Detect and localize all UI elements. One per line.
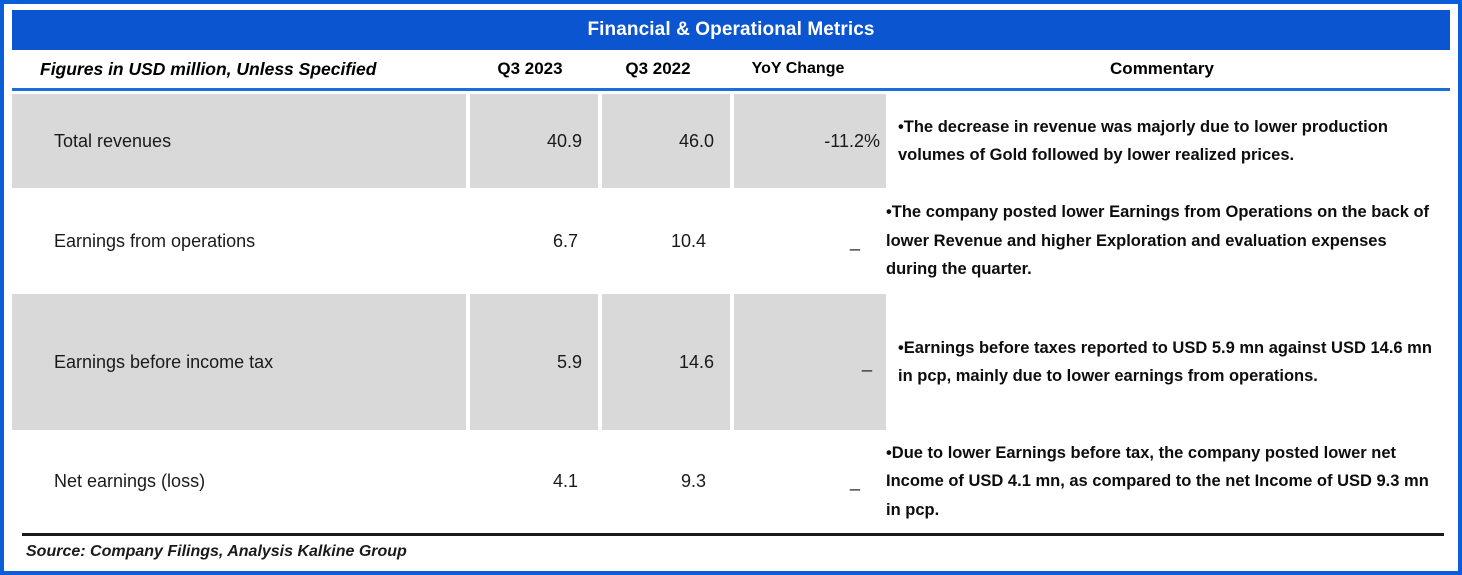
table-row: Earnings before income tax 5.9 14.6 _ •E… bbox=[12, 291, 1450, 433]
row-label: Earnings before income tax bbox=[12, 294, 466, 430]
table-title: Financial & Operational Metrics bbox=[587, 19, 874, 41]
commentary-text: •The decrease in revenue was majorly due… bbox=[898, 113, 1440, 170]
cell-yoy-change: _ bbox=[722, 433, 874, 530]
cell-commentary: •Earnings before taxes reported to USD 5… bbox=[886, 291, 1450, 433]
column-header-q3-2023: Q3 2023 bbox=[466, 59, 594, 79]
column-header-q3-2022: Q3 2022 bbox=[594, 59, 722, 79]
row-label: Net earnings (loss) bbox=[12, 433, 466, 530]
column-header-row: Figures in USD million, Unless Specified… bbox=[12, 50, 1450, 91]
metrics-table-frame: Financial & Operational Metrics Figures … bbox=[0, 0, 1462, 575]
column-header-commentary: Commentary bbox=[874, 59, 1450, 79]
table-body: Total revenues 40.9 46.0 -11.2% •The dec… bbox=[12, 91, 1450, 530]
cell-yoy-change: _ bbox=[734, 294, 886, 430]
row-label: Earnings from operations bbox=[12, 191, 466, 291]
source-note: Source: Company Filings, Analysis Kalkin… bbox=[12, 536, 1450, 567]
row-label: Total revenues bbox=[12, 94, 466, 188]
table-footer: Source: Company Filings, Analysis Kalkin… bbox=[12, 533, 1450, 567]
table-row: Total revenues 40.9 46.0 -11.2% •The dec… bbox=[12, 91, 1450, 191]
cell-commentary: •The company posted lower Earnings from … bbox=[874, 191, 1450, 291]
cell-q3-2023: 40.9 bbox=[470, 94, 598, 188]
cell-q3-2023: 4.1 bbox=[466, 433, 594, 530]
cell-yoy-change: _ bbox=[722, 191, 874, 291]
commentary-text: •Earnings before taxes reported to USD 5… bbox=[898, 334, 1440, 391]
table-title-bar: Financial & Operational Metrics bbox=[12, 10, 1450, 50]
table-row: Net earnings (loss) 4.1 9.3 _ •Due to lo… bbox=[12, 433, 1450, 530]
cell-q3-2023: 5.9 bbox=[470, 294, 598, 430]
cell-commentary: •Due to lower Earnings before tax, the c… bbox=[874, 433, 1450, 530]
cell-q3-2023: 6.7 bbox=[466, 191, 594, 291]
cell-yoy-change: -11.2% bbox=[734, 94, 886, 188]
commentary-text: •Due to lower Earnings before tax, the c… bbox=[886, 439, 1440, 524]
table-row: Earnings from operations 6.7 10.4 _ •The… bbox=[12, 191, 1450, 291]
column-header-yoy-change: YoY Change bbox=[722, 60, 874, 78]
cell-q3-2022: 14.6 bbox=[602, 294, 730, 430]
cell-q3-2022: 9.3 bbox=[594, 433, 722, 530]
commentary-text: •The company posted lower Earnings from … bbox=[886, 198, 1440, 283]
cell-q3-2022: 46.0 bbox=[602, 94, 730, 188]
cell-q3-2022: 10.4 bbox=[594, 191, 722, 291]
column-header-label: Figures in USD million, Unless Specified bbox=[12, 59, 466, 80]
cell-commentary: •The decrease in revenue was majorly due… bbox=[886, 91, 1450, 191]
